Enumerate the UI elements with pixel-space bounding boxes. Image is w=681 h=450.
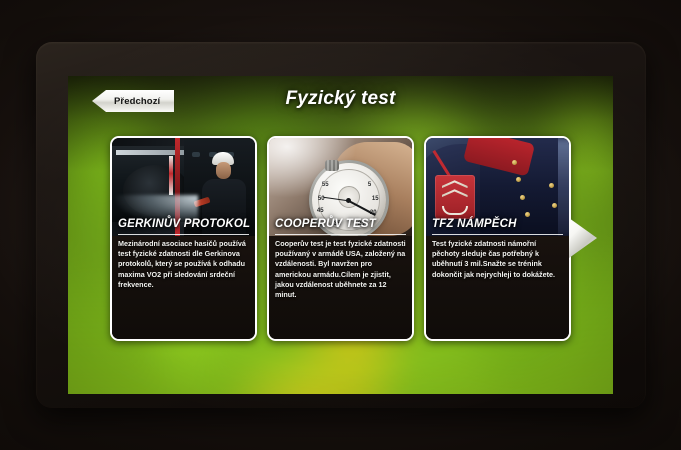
card-description: Test fyzické zdatnosti námořní pěchoty s…	[432, 239, 563, 280]
test-card-gerkin[interactable]: GERKINŮV PROTOKOL Mezinárodní asociace h…	[110, 136, 257, 341]
card-divider	[432, 234, 563, 235]
card-description: Mezinárodní asociace hasičů používá test…	[118, 239, 249, 290]
card-heading: TFZ NÁMPĚCH	[432, 218, 563, 230]
card-description: Cooperův test je test fyzické zdatnosti …	[275, 239, 406, 300]
app-screen: Předchozí Fyzický test	[68, 76, 613, 394]
card-heading: COOPERŮV TEST	[275, 218, 406, 230]
app-header: Předchozí Fyzický test	[68, 76, 613, 128]
test-card-list: GERKINŮV PROTOKOL Mezinárodní asociace h…	[68, 136, 613, 341]
device-photo: Předchozí Fyzický test	[0, 0, 681, 450]
card-divider	[275, 234, 406, 235]
card-divider	[118, 234, 249, 235]
rank-chevron-icon	[435, 175, 475, 219]
test-card-marine[interactable]: TFZ NÁMPĚCH Test fyzické zdatnosti námoř…	[424, 136, 571, 341]
card-heading: GERKINŮV PROTOKOL	[118, 218, 249, 230]
page-title: Fyzický test	[68, 88, 613, 110]
test-card-cooper[interactable]: 50 55 45 5 15 20 25 35	[267, 136, 414, 341]
